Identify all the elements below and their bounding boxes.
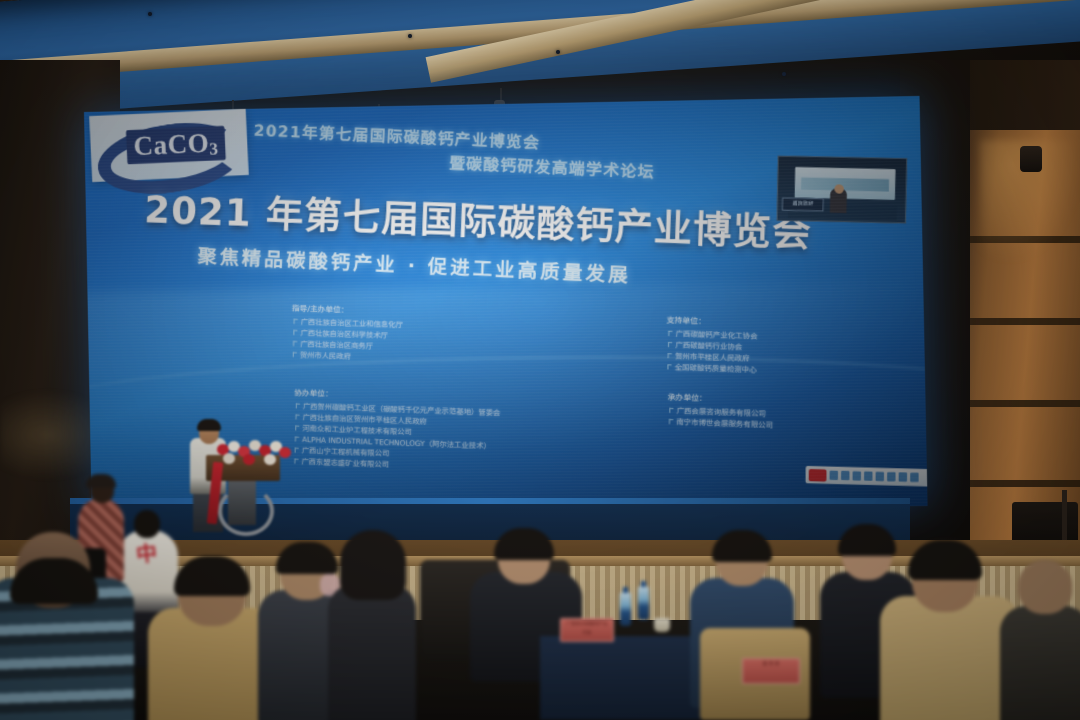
- placard-line-2: [743, 668, 799, 671]
- table-name-placard: 广西贺州碳酸钙产业 代表: [560, 618, 614, 642]
- photographer-logo: 中: [134, 537, 158, 569]
- person-head: [1018, 560, 1072, 614]
- person-hair: [340, 530, 406, 600]
- person-body: [328, 584, 416, 720]
- ceiling-light-dot: [556, 50, 560, 54]
- flower: [264, 454, 276, 465]
- podium-column: [228, 479, 256, 525]
- wood-panel-seam: [960, 480, 1080, 487]
- flower: [243, 454, 255, 465]
- wood-panel-seam: [960, 400, 1080, 407]
- ceiling-light-dot: [408, 34, 412, 38]
- placard-line-2: 代表: [561, 628, 613, 637]
- placard-line-1: 嘉 宾 席: [743, 659, 799, 668]
- table-name-placard: 嘉 宾 席: [742, 658, 800, 684]
- floral-arrangement: [215, 440, 293, 466]
- wall-pendant-light: [1020, 146, 1042, 172]
- flower: [279, 447, 291, 458]
- person-body: [880, 596, 1020, 720]
- ceiling-light-dot: [782, 72, 786, 76]
- ceiling-light-dot: [148, 12, 152, 16]
- placard-line-1: 广西贺州碳酸钙产业: [561, 619, 613, 628]
- person-body: [1000, 606, 1080, 720]
- person-cap: [86, 474, 116, 488]
- photo-scene: CaCO3 2021年第七届国际碳酸钙产业博览会 暨碳酸钙研发高端学术论坛 20…: [0, 0, 1080, 720]
- wood-panel-seam: [960, 318, 1080, 325]
- flower: [223, 453, 235, 464]
- water-bottle: [638, 586, 649, 620]
- tea-cup: [654, 618, 670, 632]
- speaker-hair: [197, 419, 221, 431]
- water-bottle: [620, 592, 631, 626]
- photographer-head: [134, 510, 160, 538]
